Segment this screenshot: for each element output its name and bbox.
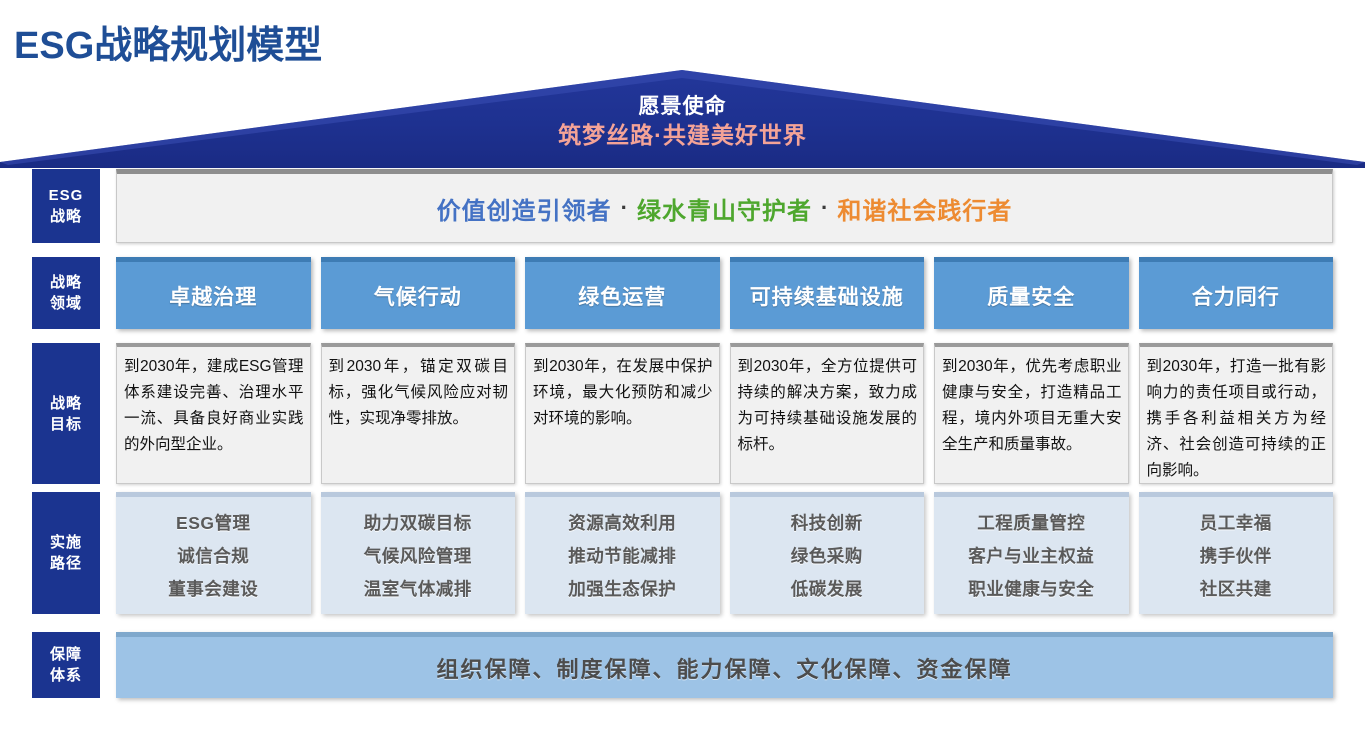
path-card[interactable]: 资源高效利用 推动节能减排 加强生态保护 xyxy=(525,492,720,614)
path-card[interactable]: 科技创新 绿色采购 低碳发展 xyxy=(730,492,925,614)
row-label-line2: 目标 xyxy=(50,414,82,435)
esg-segment-value-creation: 价值创造引领者 xyxy=(437,191,612,226)
path-item: 社区共建 xyxy=(1200,574,1272,604)
row-guarantee-system: 保障 体系 组织保障、制度保障、能力保障、文化保障、资金保障 xyxy=(32,632,1333,698)
row-label-line1: 战略 xyxy=(50,272,82,293)
domain-card-list: 卓越治理 气候行动 绿色运营 可持续基础设施 质量安全 合力同行 xyxy=(116,257,1333,329)
path-item: 气候风险管理 xyxy=(364,541,472,571)
domain-card[interactable]: 可持续基础设施 xyxy=(730,257,925,329)
roof-triangle-icon xyxy=(0,66,1365,168)
goal-card: 到2030年，全方位提供可持续的解决方案，致力成为可持续基础设施发展的标杆。 xyxy=(730,343,925,484)
path-item: 诚信合规 xyxy=(177,541,249,571)
path-item: 工程质量管控 xyxy=(977,508,1085,538)
path-item: 推动节能减排 xyxy=(568,541,676,571)
path-item: ESG管理 xyxy=(176,508,250,538)
path-item: 科技创新 xyxy=(791,508,863,538)
domain-card[interactable]: 卓越治理 xyxy=(116,257,311,329)
path-item: 低碳发展 xyxy=(791,574,863,604)
path-item: 董事会建设 xyxy=(168,574,258,604)
goal-card: 到2030年，打造一批有影响力的责任项目或行动，携手各利益相关方为经济、社会创造… xyxy=(1139,343,1334,484)
path-card[interactable]: 助力双碳目标 气候风险管理 温室气体减排 xyxy=(321,492,516,614)
row-label-implementation-paths: 实施 路径 xyxy=(32,492,100,614)
row-label-guarantee-system: 保障 体系 xyxy=(32,632,100,698)
esg-separator-2: · xyxy=(812,195,837,221)
row-label-line2: 路径 xyxy=(50,553,82,574)
path-item: 加强生态保护 xyxy=(568,574,676,604)
esg-segment-green-guardian: 绿水青山守护者 xyxy=(637,191,812,226)
goal-card: 到2030年，在发展中保护环境，最大化预防和减少对环境的影响。 xyxy=(525,343,720,484)
row-strategic-goals: 战略 目标 到2030年，建成ESG管理体系建设完善、治理水平一流、具备良好商业… xyxy=(32,343,1333,484)
row-implementation-paths: 实施 路径 ESG管理 诚信合规 董事会建设 助力双碳目标 气候风险管理 温室气… xyxy=(32,492,1333,614)
row-strategic-domains: 战略 领域 卓越治理 气候行动 绿色运营 可持续基础设施 质量安全 合力同行 xyxy=(32,257,1333,329)
row-label-line2: 战略 xyxy=(50,206,82,227)
path-item: 客户与业主权益 xyxy=(968,541,1094,571)
page-title: ESG战略规划模型 xyxy=(14,14,322,69)
row-label-line1: ESG xyxy=(49,185,84,206)
row-label-line1: 战略 xyxy=(50,393,82,414)
row-label-line2: 体系 xyxy=(50,665,82,686)
row-esg-strategy: ESG 战略 价值创造引领者 · 绿水青山守护者 · 和谐社会践行者 xyxy=(32,169,1333,243)
path-card[interactable]: 工程质量管控 客户与业主权益 职业健康与安全 xyxy=(934,492,1129,614)
esg-separator-1: · xyxy=(612,195,637,221)
path-item: 温室气体减排 xyxy=(364,574,472,604)
domain-card[interactable]: 质量安全 xyxy=(934,257,1129,329)
path-item: 携手伙伴 xyxy=(1200,541,1272,571)
row-label-esg-strategy: ESG 战略 xyxy=(32,169,100,243)
row-label-line2: 领域 xyxy=(50,293,82,314)
esg-segment-harmonious-society: 和谐社会践行者 xyxy=(837,191,1012,226)
path-item: 助力双碳目标 xyxy=(364,508,472,538)
goal-card: 到2030年，建成ESG管理体系建设完善、治理水平一流、具备良好商业实践的外向型… xyxy=(116,343,311,484)
path-item: 职业健康与安全 xyxy=(968,574,1094,604)
row-label-line1: 保障 xyxy=(50,644,82,665)
guarantee-bar: 组织保障、制度保障、能力保障、文化保障、资金保障 xyxy=(116,632,1333,698)
domain-card[interactable]: 气候行动 xyxy=(321,257,516,329)
esg-strategy-model-diagram: ESG战略规划模型 愿景使命 筑梦丝路·共建美好世界 ESG 战略 价值创造引 xyxy=(0,0,1365,736)
path-card[interactable]: ESG管理 诚信合规 董事会建设 xyxy=(116,492,311,614)
path-item: 资源高效利用 xyxy=(568,508,676,538)
path-item: 员工幸福 xyxy=(1200,508,1272,538)
path-card[interactable]: 员工幸福 携手伙伴 社区共建 xyxy=(1139,492,1334,614)
esg-strategy-bar: 价值创造引领者 · 绿水青山守护者 · 和谐社会践行者 xyxy=(116,169,1333,243)
goal-card: 到2030年，优先考虑职业健康与安全，打造精品工程，境内外项目无重大安全生产和质… xyxy=(934,343,1129,484)
goal-card-list: 到2030年，建成ESG管理体系建设完善、治理水平一流、具备良好商业实践的外向型… xyxy=(116,343,1333,484)
row-label-line1: 实施 xyxy=(50,532,82,553)
goal-card: 到2030年，锚定双碳目标，强化气候风险应对韧性，实现净零排放。 xyxy=(321,343,516,484)
path-card-list: ESG管理 诚信合规 董事会建设 助力双碳目标 气候风险管理 温室气体减排 资源… xyxy=(116,492,1333,614)
guarantee-text: 组织保障、制度保障、能力保障、文化保障、资金保障 xyxy=(436,652,1012,684)
domain-card[interactable]: 合力同行 xyxy=(1139,257,1334,329)
row-label-strategic-domains: 战略 领域 xyxy=(32,257,100,329)
roof-shape: 愿景使命 筑梦丝路·共建美好世界 xyxy=(0,66,1365,168)
row-label-strategic-goals: 战略 目标 xyxy=(32,343,100,484)
path-item: 绿色采购 xyxy=(791,541,863,571)
domain-card[interactable]: 绿色运营 xyxy=(525,257,720,329)
